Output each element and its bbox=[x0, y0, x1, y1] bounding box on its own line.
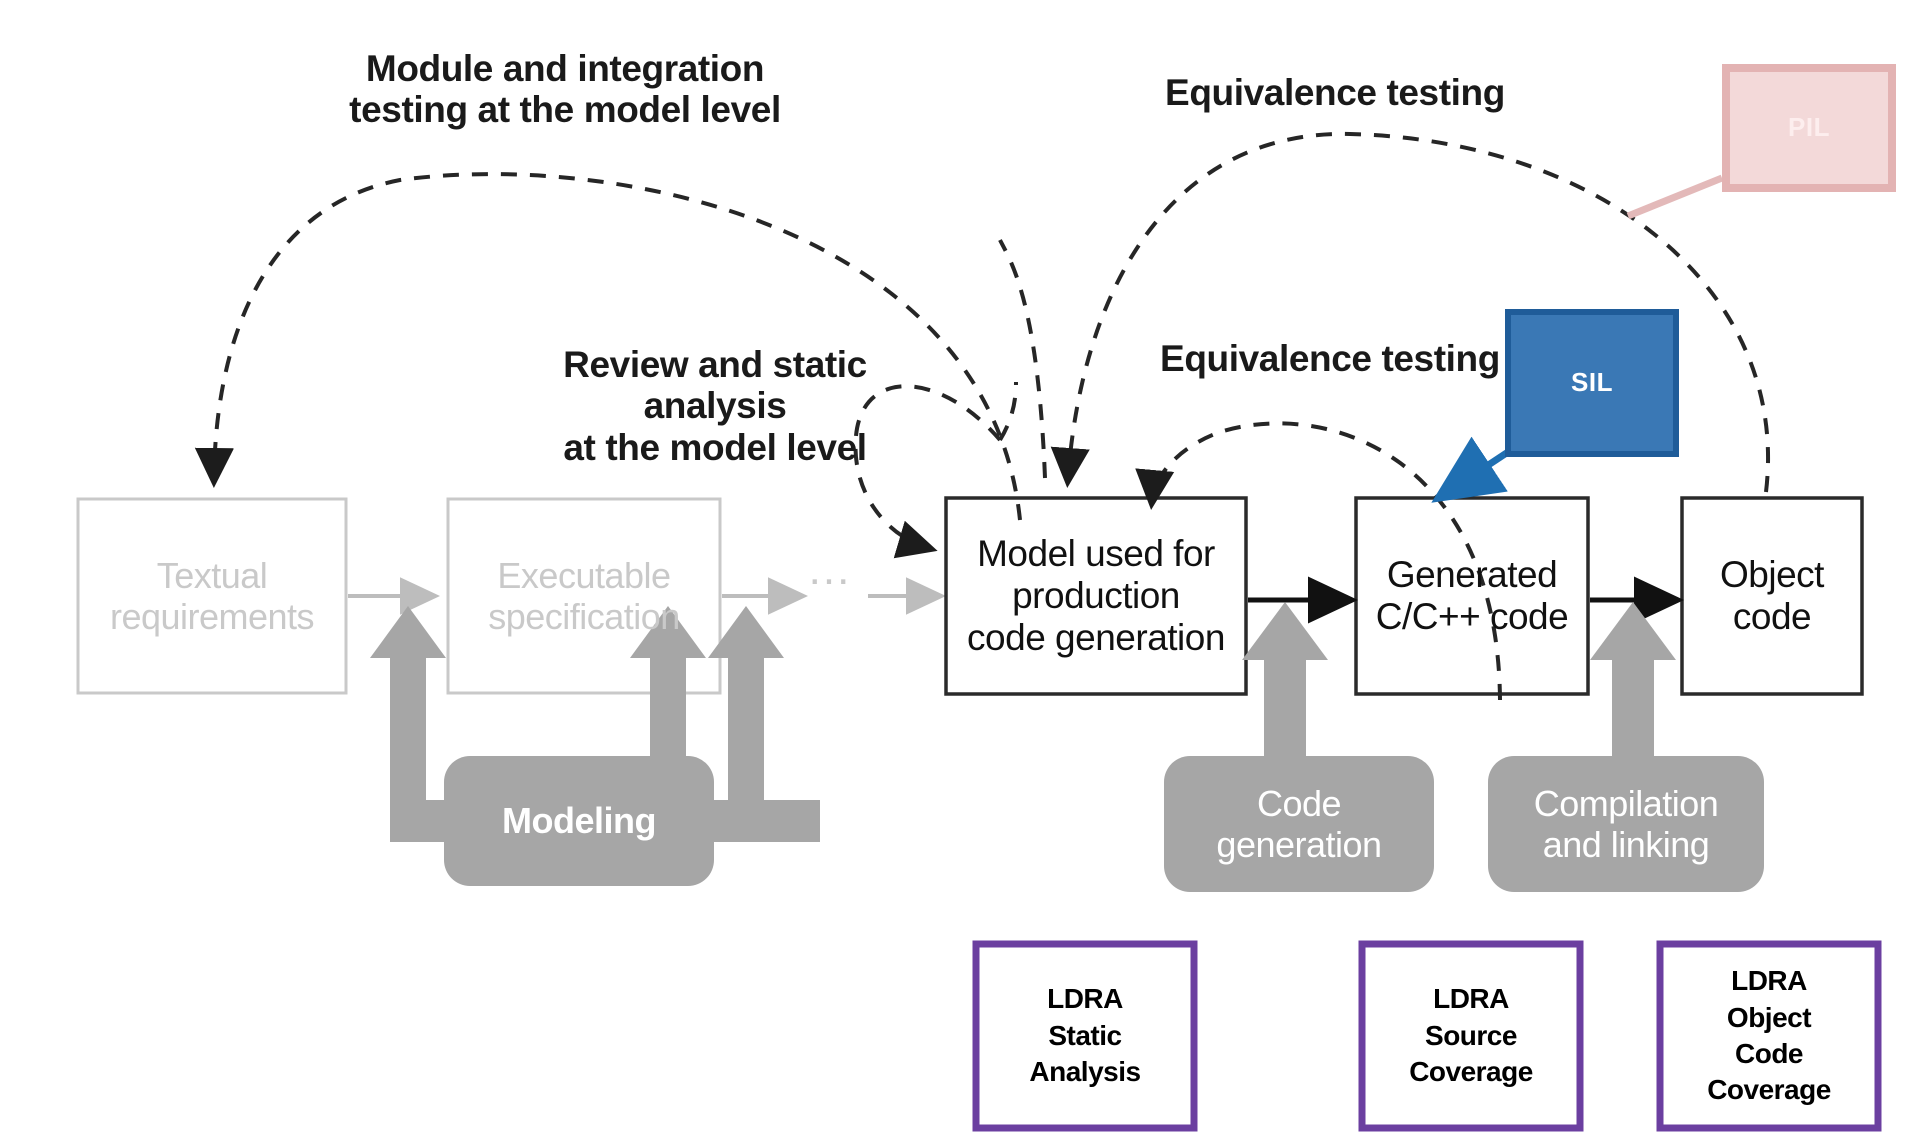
callout-label-sil: SIL bbox=[1508, 312, 1676, 454]
annotation-equivalence-lower: Equivalence testing bbox=[1140, 338, 1520, 379]
arc-review-static-tail bbox=[1000, 382, 1016, 440]
annotation-equivalence-upper: Equivalence testing bbox=[1135, 72, 1535, 113]
stage-label-textual-requirements: Textual requirements bbox=[78, 499, 346, 693]
process-label-compilation-linking: Compilation and linking bbox=[1488, 756, 1764, 892]
annotation-module-integration: Module and integration testing at the mo… bbox=[330, 48, 800, 131]
process-label-code-generation: Code generation bbox=[1164, 756, 1434, 892]
stage-label-generated-code: Generated C/C++ code bbox=[1356, 498, 1588, 694]
stage-label-ellipsis: ... bbox=[790, 540, 870, 600]
callout-label-pil: PIL bbox=[1726, 68, 1892, 188]
process-label-modeling: Modeling bbox=[444, 756, 714, 886]
tool-label-ldra-static-analysis: LDRA Static Analysis bbox=[976, 944, 1194, 1128]
annotation-review-static: Review and static analysis at the model … bbox=[490, 344, 940, 468]
callout-leader-pil bbox=[1628, 178, 1722, 216]
diagram-canvas: Module and integration testing at the mo… bbox=[0, 0, 1920, 1143]
arc-module-integration-to-model bbox=[1000, 240, 1045, 478]
callout-leader-sil bbox=[1443, 452, 1508, 495]
stage-label-model-production: Model used for production code generatio… bbox=[946, 498, 1246, 694]
tool-label-ldra-source-coverage: LDRA Source Coverage bbox=[1362, 944, 1580, 1128]
stage-label-executable-specification: Executable specification bbox=[448, 499, 720, 693]
stage-label-object-code: Object code bbox=[1682, 498, 1862, 694]
tool-label-ldra-object-code-coverage: LDRA Object Code Coverage bbox=[1660, 944, 1878, 1128]
